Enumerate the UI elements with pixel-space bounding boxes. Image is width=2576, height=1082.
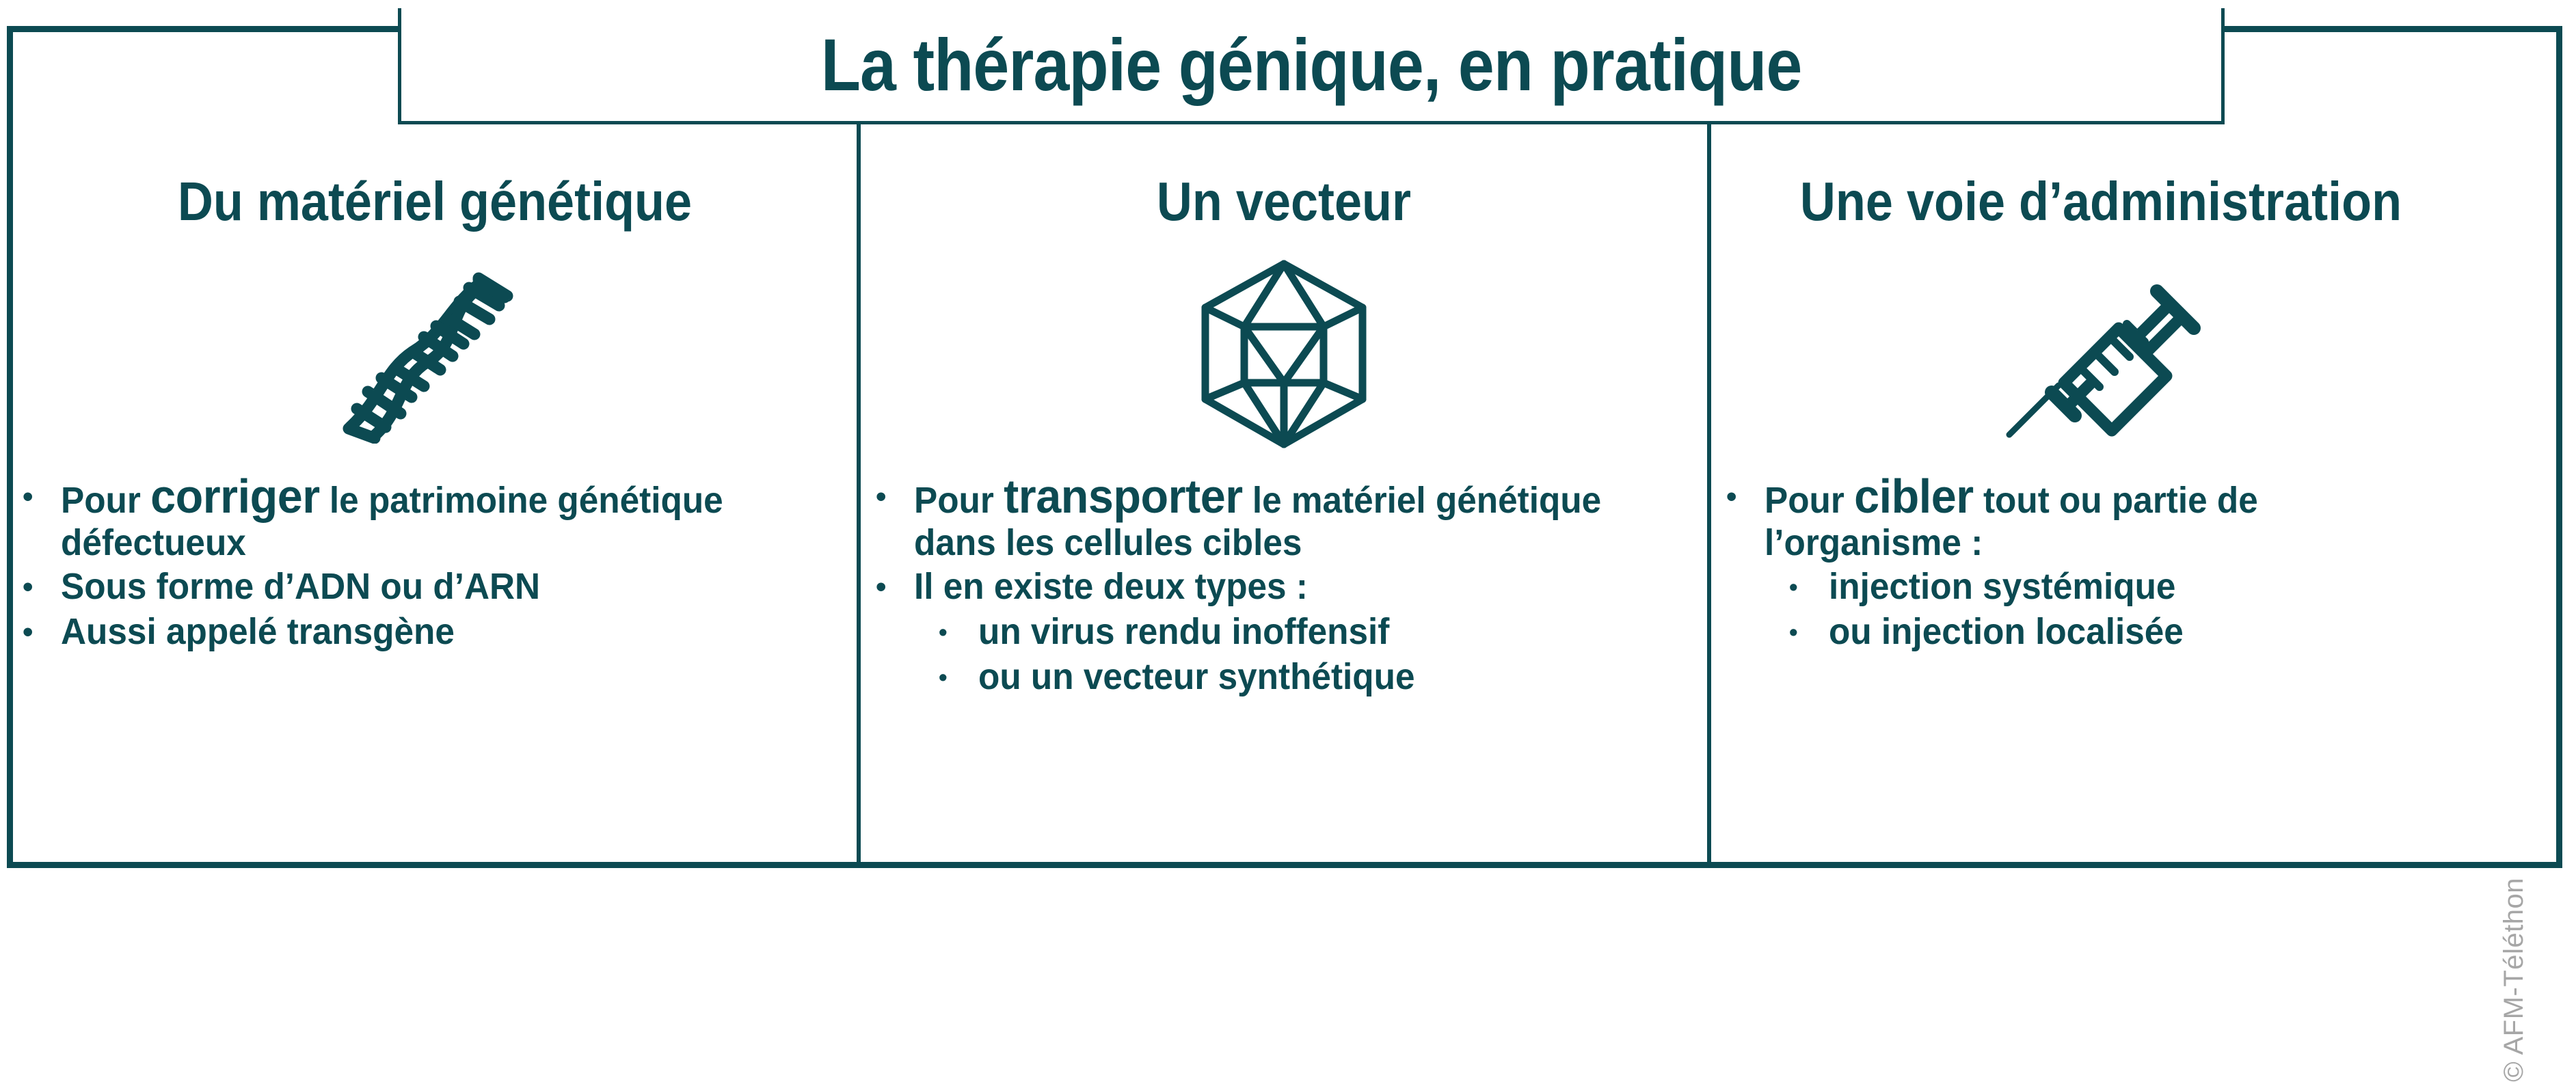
title-plaque: La thérapie génique, en pratique xyxy=(398,8,2225,124)
column-1-heading: Du matériel génétique xyxy=(55,174,815,229)
list-item: • injection systémique xyxy=(1726,565,2485,609)
list-item-text: Pour transporter le matériel génétique d… xyxy=(914,475,1662,564)
column-administration-route: Une voie d’administration xyxy=(1711,32,2491,862)
bullet-emphasis: cibler xyxy=(1854,470,1974,523)
list-item-text: ou un vecteur synthétique xyxy=(978,655,1665,698)
column-2-heading: Un vecteur xyxy=(903,174,1665,229)
list-item: • un virus rendu inoffensif xyxy=(876,610,1702,654)
page-title: La thérapie génique, en pratique xyxy=(821,28,1802,102)
copyright-notice: © AFM-Téléthon xyxy=(2499,878,2530,1082)
list-item: • Sous forme d’ADN ou d’ARN xyxy=(23,565,850,609)
columns-container: Du matériel génétique xyxy=(13,32,2563,862)
list-item: • Il en existe deux types : xyxy=(876,565,1702,609)
bullet-marker: • xyxy=(876,475,914,519)
list-item: • Pour transporter le matériel génétique… xyxy=(876,475,1702,564)
bullet-marker: • xyxy=(23,565,61,609)
column-2-bullets: • Pour transporter le matériel génétique… xyxy=(861,475,1707,701)
bullet-prefix: Pour xyxy=(61,480,150,521)
list-item: • ou un vecteur synthétique xyxy=(876,655,1702,699)
bullet-marker: • xyxy=(23,610,61,654)
list-item-text: Pour corriger le patrimoine génétique dé… xyxy=(61,475,810,564)
bullet-marker: • xyxy=(23,475,61,519)
list-item: • ou injection localisée xyxy=(1726,610,2485,654)
list-item-text: Aussi appelé transgène xyxy=(61,610,810,653)
column-genetic-material: Du matériel génétique xyxy=(13,32,857,862)
list-item-text: Pour cibler tout ou partie de l’organism… xyxy=(1765,475,2449,564)
dna-helix-icon xyxy=(13,252,857,457)
bullet-emphasis: transporter xyxy=(1004,470,1243,523)
list-item: • Pour corriger le patrimoine génétique … xyxy=(23,475,850,564)
list-item: • Pour cibler tout ou partie de l’organi… xyxy=(1726,475,2485,564)
list-item-text: un virus rendu inoffensif xyxy=(978,610,1665,653)
column-1-bullets: • Pour corriger le patrimoine génétique … xyxy=(13,475,857,655)
list-item: • Aussi appelé transgène xyxy=(23,610,850,654)
bullet-prefix: Pour xyxy=(1765,480,1854,521)
syringe-icon xyxy=(1711,252,2491,457)
infographic-page: La thérapie génique, en pratique Du maté… xyxy=(0,0,2576,891)
list-item-text: ou injection localisée xyxy=(1829,610,2452,653)
bullet-prefix: Pour xyxy=(914,480,1004,521)
column-vector: Un vecteur xyxy=(857,32,1711,862)
bullet-marker: • xyxy=(939,655,978,699)
bullet-marker: • xyxy=(939,610,978,654)
bullet-marker: • xyxy=(1789,610,1829,654)
bullet-marker: • xyxy=(1726,475,1765,519)
bullet-marker: • xyxy=(1789,565,1829,609)
viral-capsid-icosahedron-icon xyxy=(861,252,1707,457)
column-3-heading: Une voie d’administration xyxy=(1750,174,2452,229)
list-item-text: Il en existe deux types : xyxy=(914,565,1662,608)
list-item-text: injection systémique xyxy=(1829,565,2452,608)
column-3-bullets: • Pour cibler tout ou partie de l’organi… xyxy=(1711,475,2491,655)
bullet-emphasis: corriger xyxy=(150,470,320,523)
list-item-text: Sous forme d’ADN ou d’ARN xyxy=(61,565,810,608)
bullet-marker: • xyxy=(876,565,914,609)
